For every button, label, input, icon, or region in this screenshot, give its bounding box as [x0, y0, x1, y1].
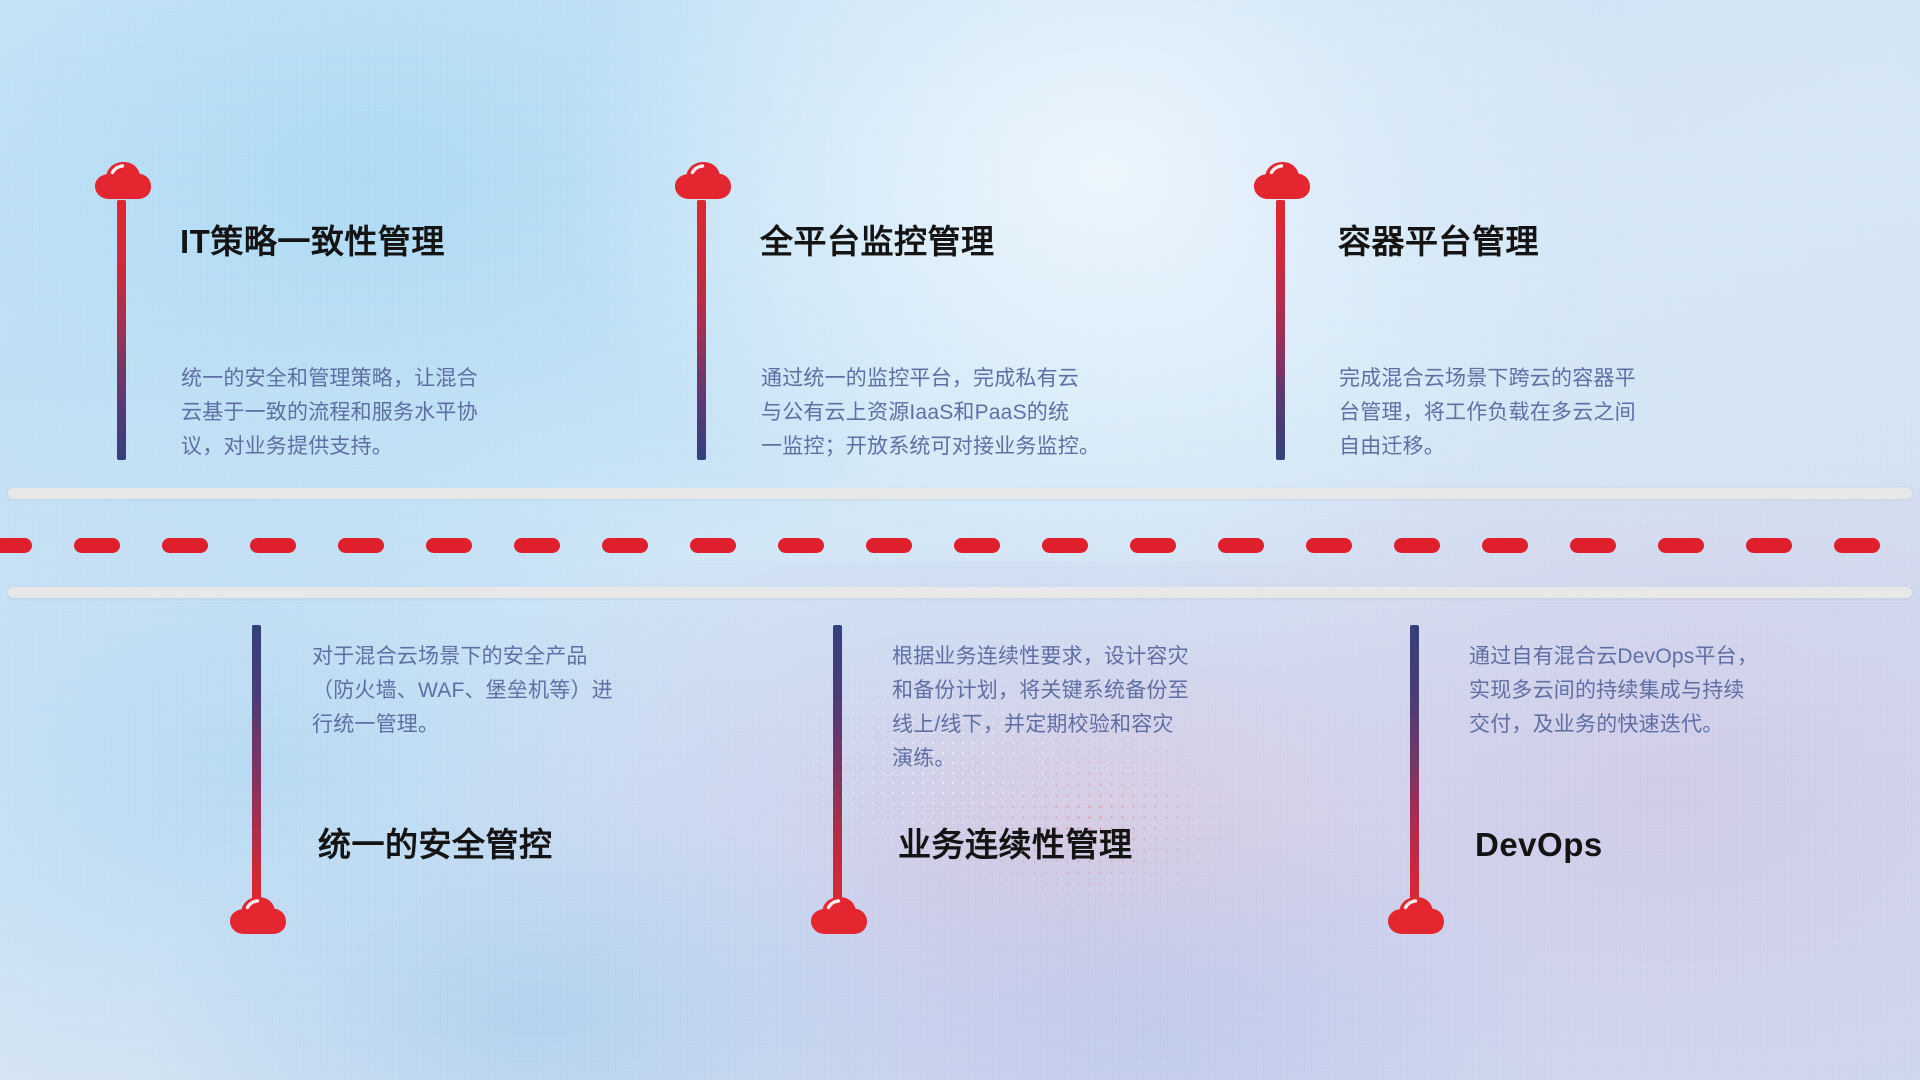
center-divider: [0, 488, 1920, 598]
divider-dash-segment: [954, 538, 1000, 553]
divider-dash-segment: [778, 538, 824, 553]
divider-dash-segment: [514, 538, 560, 553]
divider-dash-segment: [426, 538, 472, 553]
connector-stem: [1276, 200, 1285, 460]
cloud-icon: [227, 895, 289, 940]
card-body: 通过统一的监控平台，完成私有云 与公有云上资源IaaS和PaaS的统 一监控；开…: [761, 362, 1161, 464]
cloud-icon: [1385, 895, 1447, 940]
divider-dash-segment: [1570, 538, 1616, 553]
infographic-canvas: IT策略一致性管理 统一的安全和管理策略，让混合 云基于一致的流程和服务水平协 …: [0, 0, 1920, 1080]
divider-dash-segment: [1306, 538, 1352, 553]
cloud-icon: [92, 160, 154, 205]
card-title: 容器平台管理: [1338, 222, 1539, 262]
divider-dash-segment: [74, 538, 120, 553]
divider-dash-segment: [1658, 538, 1704, 553]
divider-line-bottom: [8, 587, 1912, 598]
divider-dash-segment: [0, 538, 32, 553]
divider-dash-segment: [1746, 538, 1792, 553]
divider-dash-segment: [602, 538, 648, 553]
card-title: IT策略一致性管理: [180, 222, 445, 262]
divider-dash-segment: [1834, 538, 1880, 553]
divider-dash-segment: [1394, 538, 1440, 553]
divider-dash-segment: [1042, 538, 1088, 553]
divider-dash-segment: [1218, 538, 1264, 553]
cloud-icon: [1251, 160, 1313, 205]
connector-stem: [252, 625, 261, 910]
card-body: 完成混合云场景下跨云的容器平 台管理，将工作负载在多云之间 自由迁移。: [1339, 362, 1739, 464]
divider-dash-segment: [338, 538, 384, 553]
divider-dash-segment: [250, 538, 296, 553]
cloud-icon: [672, 160, 734, 205]
divider-dash-segment: [690, 538, 736, 553]
cloud-icon: [808, 895, 870, 940]
connector-stem: [697, 200, 706, 460]
card-body: 统一的安全和管理策略，让混合 云基于一致的流程和服务水平协 议，对业务提供支持。: [181, 362, 581, 464]
card-body: 对于混合云场景下的安全产品 （防火墙、WAF、堡垒机等）进 行统一管理。: [312, 640, 712, 742]
divider-line-top: [8, 488, 1912, 499]
connector-stem: [117, 200, 126, 460]
card-body: 根据业务连续性要求，设计容灾 和备份计划，将关键系统备份至 线上/线下，并定期校…: [892, 640, 1272, 776]
card-title: 统一的安全管控: [318, 825, 553, 865]
divider-dash-segment: [1482, 538, 1528, 553]
divider-dash-segment: [1130, 538, 1176, 553]
divider-dashed-road: [0, 538, 1920, 553]
divider-dash-segment: [866, 538, 912, 553]
card-body: 通过自有混合云DevOps平台， 实现多云间的持续集成与持续 交付，及业务的快速…: [1469, 640, 1849, 742]
connector-stem: [1410, 625, 1419, 910]
card-title: DevOps: [1475, 825, 1603, 865]
divider-dash-segment: [162, 538, 208, 553]
connector-stem: [833, 625, 842, 910]
card-title: 全平台监控管理: [760, 222, 995, 262]
card-title: 业务连续性管理: [898, 825, 1133, 865]
